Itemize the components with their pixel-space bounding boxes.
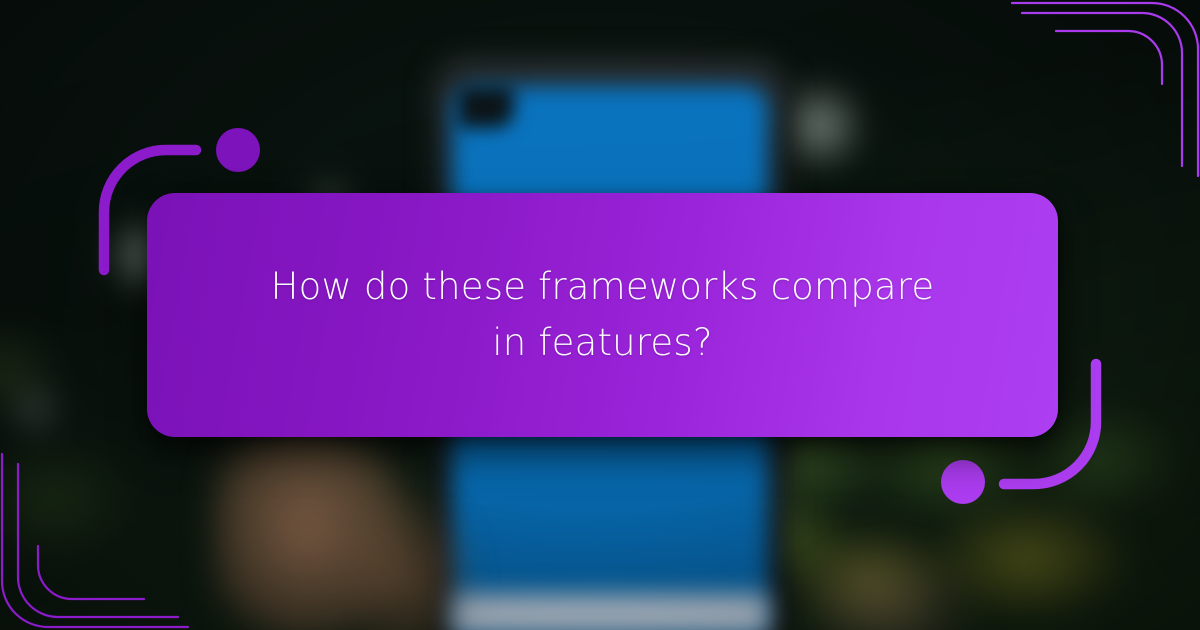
accent-dot-top-left	[216, 128, 260, 172]
quote-text: How do these frameworks compare in featu…	[253, 259, 953, 371]
quote-card-canvas: How do these frameworks compare in featu…	[0, 0, 1200, 630]
accent-dot-bottom-right	[941, 460, 985, 504]
quote-card: How do these frameworks compare in featu…	[147, 193, 1058, 437]
